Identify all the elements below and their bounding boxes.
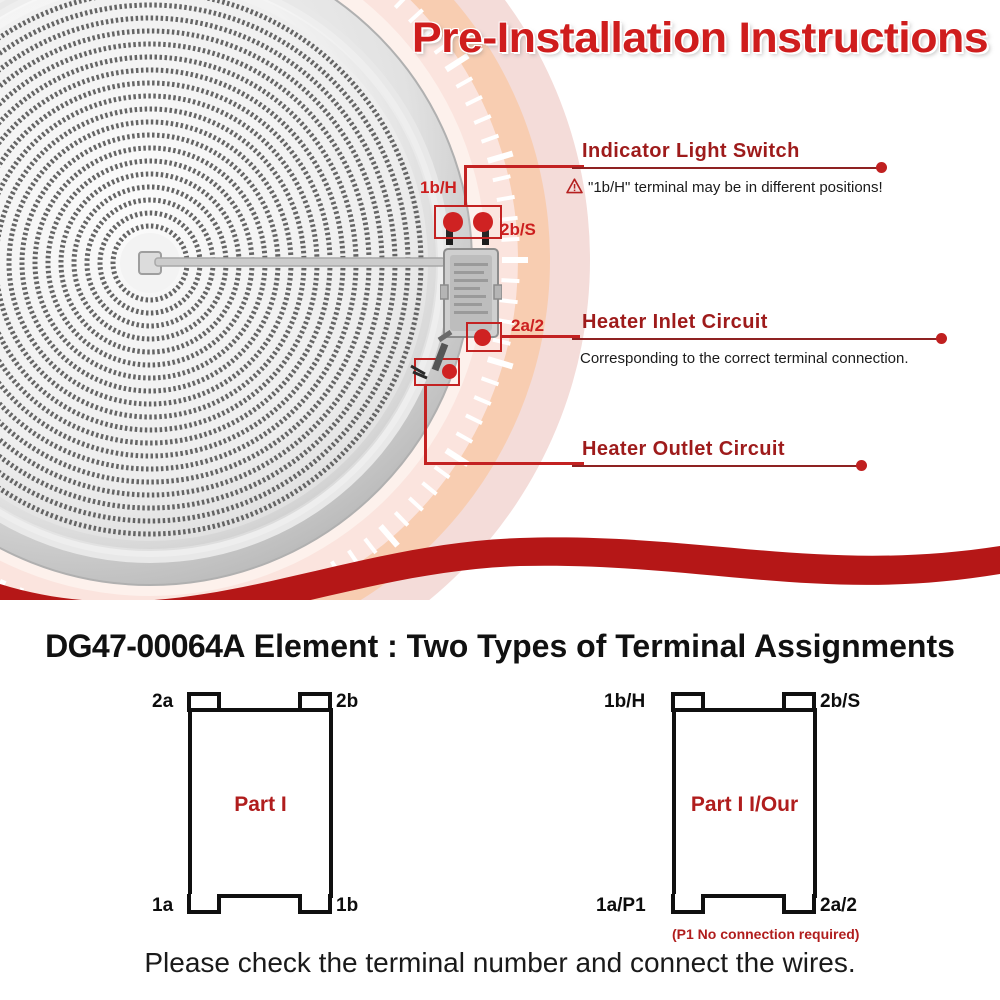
- callout-endpoint-indicator: [876, 162, 887, 173]
- callout-rule-outlet: [572, 465, 860, 467]
- outlet-wires: [405, 330, 475, 390]
- tag-1b-h: 1b/H: [420, 178, 457, 198]
- part-two-note: (P1 No connection required): [672, 926, 817, 942]
- label-1a-p1: 1a/P1: [596, 895, 646, 917]
- leader-outlet-vertical: [424, 384, 427, 464]
- terminal-dot-2a-2: [474, 329, 491, 346]
- callout-note-inlet: Corresponding to the correct terminal co…: [580, 350, 909, 367]
- callout-rule-inlet: [572, 338, 940, 340]
- label-1a: 1a: [152, 895, 173, 917]
- tab-bottom-left-part-one: [187, 894, 221, 914]
- tag-2b-s: 2b/S: [500, 220, 536, 240]
- callout-endpoint-outlet: [856, 460, 867, 471]
- callout-note-text-indicator: "1b/H" terminal may be in different posi…: [588, 179, 883, 196]
- leader-1b-h-horizontal: [464, 165, 584, 168]
- tag-2a-2: 2a/2: [511, 316, 544, 336]
- callout-heater-inlet-circuit: Heater Inlet Circuit: [582, 311, 902, 334]
- label-1b-h: 1b/H: [604, 691, 645, 713]
- label-2a: 2a: [152, 691, 173, 713]
- label-2b: 2b: [336, 691, 358, 713]
- part-name-two: Part I I/Our: [672, 793, 817, 817]
- footer-caption: Please check the terminal number and con…: [0, 947, 1000, 979]
- callout-rule-indicator: [572, 167, 880, 169]
- callout-title-heater-inlet: Heater Inlet Circuit: [582, 311, 902, 334]
- terminal-dot-1b-h: [443, 212, 463, 232]
- callout-title-heater-outlet: Heater Outlet Circuit: [582, 438, 902, 461]
- tab-bottom-right-part-two: [782, 894, 816, 914]
- section-heading-rest: Element : Two Types of Terminal Assignme…: [245, 628, 955, 664]
- terminal-dot-2b-s: [473, 212, 493, 232]
- label-1b: 1b: [336, 895, 358, 917]
- tab-bottom-right-part-one: [298, 894, 332, 914]
- top-section: 1b/H 2b/S 2a/2 Pre-Installation Instruct…: [0, 0, 1000, 600]
- page-title: Pre-Installation Instructions: [388, 8, 1000, 68]
- label-2b-s: 2b/S: [820, 691, 860, 713]
- part-name-one: Part I: [188, 793, 333, 817]
- diagram-part-two: Part I I/Our 1b/H 2b/S 1a/P1 2a/2 (P1 No…: [672, 708, 817, 898]
- section-heading: DG47-00064A Element : Two Types of Termi…: [0, 628, 1000, 665]
- infographic-page: 1b/H 2b/S 2a/2 Pre-Installation Instruct…: [0, 0, 1000, 1000]
- leader-1b-h-vertical: [464, 165, 467, 207]
- callout-endpoint-inlet: [936, 333, 947, 344]
- callout-indicator-light-switch: Indicator Light Switch: [582, 140, 902, 163]
- tab-bottom-left-part-two: [671, 894, 705, 914]
- callout-note-indicator: "1b/H" terminal may be in different posi…: [566, 178, 883, 196]
- section-heading-part-number: DG47-00064A: [45, 628, 245, 664]
- leader-outlet-horizontal: [424, 462, 584, 465]
- bottom-section: DG47-00064A Element : Two Types of Termi…: [0, 600, 1000, 1000]
- diagram-part-one: Part I 2a 2b 1a 1b: [188, 708, 333, 898]
- label-2a-2: 2a/2: [820, 895, 857, 917]
- callout-heater-outlet-circuit: Heater Outlet Circuit: [582, 438, 902, 461]
- warning-triangle-icon: [566, 178, 583, 194]
- wave-divider: [0, 500, 1000, 600]
- callout-title-indicator-light-switch: Indicator Light Switch: [582, 140, 902, 163]
